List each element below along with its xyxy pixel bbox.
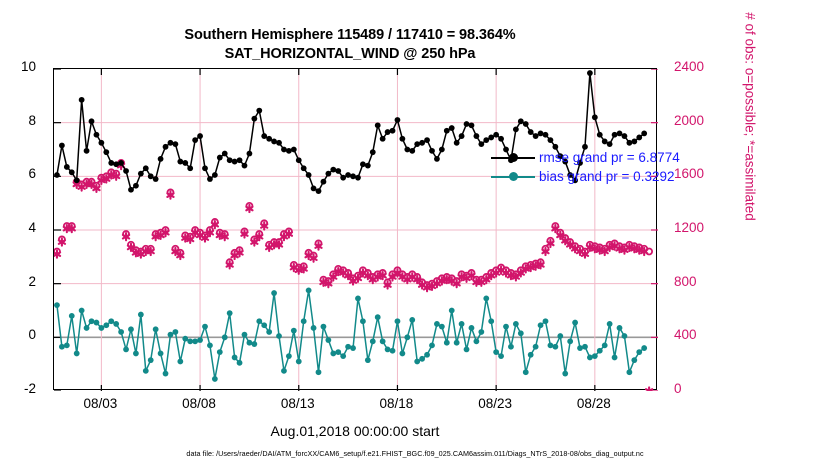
x-axis-tick-08-03: 08/03	[65, 396, 135, 411]
y-axis-left-ticks: -20246810	[0, 68, 47, 390]
x-axis-tick-08-13: 08/13	[263, 396, 333, 411]
chart-figure: Southern Hemisphere 115489 / 117410 = 98…	[0, 0, 830, 470]
y-axis-right-ticks: 04008001200160020002400	[663, 68, 713, 390]
y-axis-right-tick-2400: 2400	[674, 60, 720, 74]
x-axis-ticks: 08/0308/0808/1308/1808/2308/28	[53, 396, 657, 416]
x-axis-tick-08-28: 08/28	[559, 396, 629, 411]
y-axis-left-tick-4: 4	[0, 221, 36, 235]
x-axis-tick-08-18: 08/18	[361, 396, 431, 411]
y-axis-right-tick-1600: 1600	[674, 167, 720, 181]
title-line-2: SAT_HORIZONTAL_WIND @ 250 hPa	[0, 45, 700, 64]
y-axis-left-tick-10: 10	[0, 60, 36, 74]
x-axis-label: Aug.01,2018 00:00:00 start	[53, 423, 657, 439]
y-axis-left-tick-6: 6	[0, 167, 36, 181]
data-file-footer: data file: /Users/raeder/DAI/ATM_forcXX/…	[0, 449, 830, 458]
y-axis-left-tick-8: 8	[0, 114, 36, 128]
x-axis-tick-08-23: 08/23	[460, 396, 530, 411]
y-axis-left-tick-2: 2	[0, 275, 36, 289]
plot-area: rmse grand pr = 6.8774 bias grand pr = 0…	[53, 68, 657, 390]
y-axis-right-tick-800: 800	[674, 275, 720, 289]
y-axis-right-tick-0: 0	[674, 382, 720, 396]
plot-canvas	[54, 69, 658, 391]
x-axis-tick-08-08: 08/08	[164, 396, 234, 411]
legend-marker-bias-icon	[509, 172, 518, 181]
y-axis-right-tick-2000: 2000	[674, 114, 720, 128]
y-axis-right-tick-1200: 1200	[674, 221, 720, 235]
legend-label-bias: bias grand pr = 0.3292	[539, 168, 674, 185]
page-title: Southern Hemisphere 115489 / 117410 = 98…	[0, 26, 700, 64]
legend-label-rmse: rmse grand pr = 6.8774	[539, 149, 680, 166]
y-axis-left-tick--2: -2	[0, 382, 36, 396]
y-axis-right-label: # of obs: o=possible; *=assimilated	[743, 0, 758, 282]
y-axis-left-tick-0: 0	[0, 328, 36, 342]
title-line-1: Southern Hemisphere 115489 / 117410 = 98…	[0, 26, 700, 45]
y-axis-right-tick-400: 400	[674, 328, 720, 342]
legend-marker-rmse-icon	[509, 153, 518, 162]
